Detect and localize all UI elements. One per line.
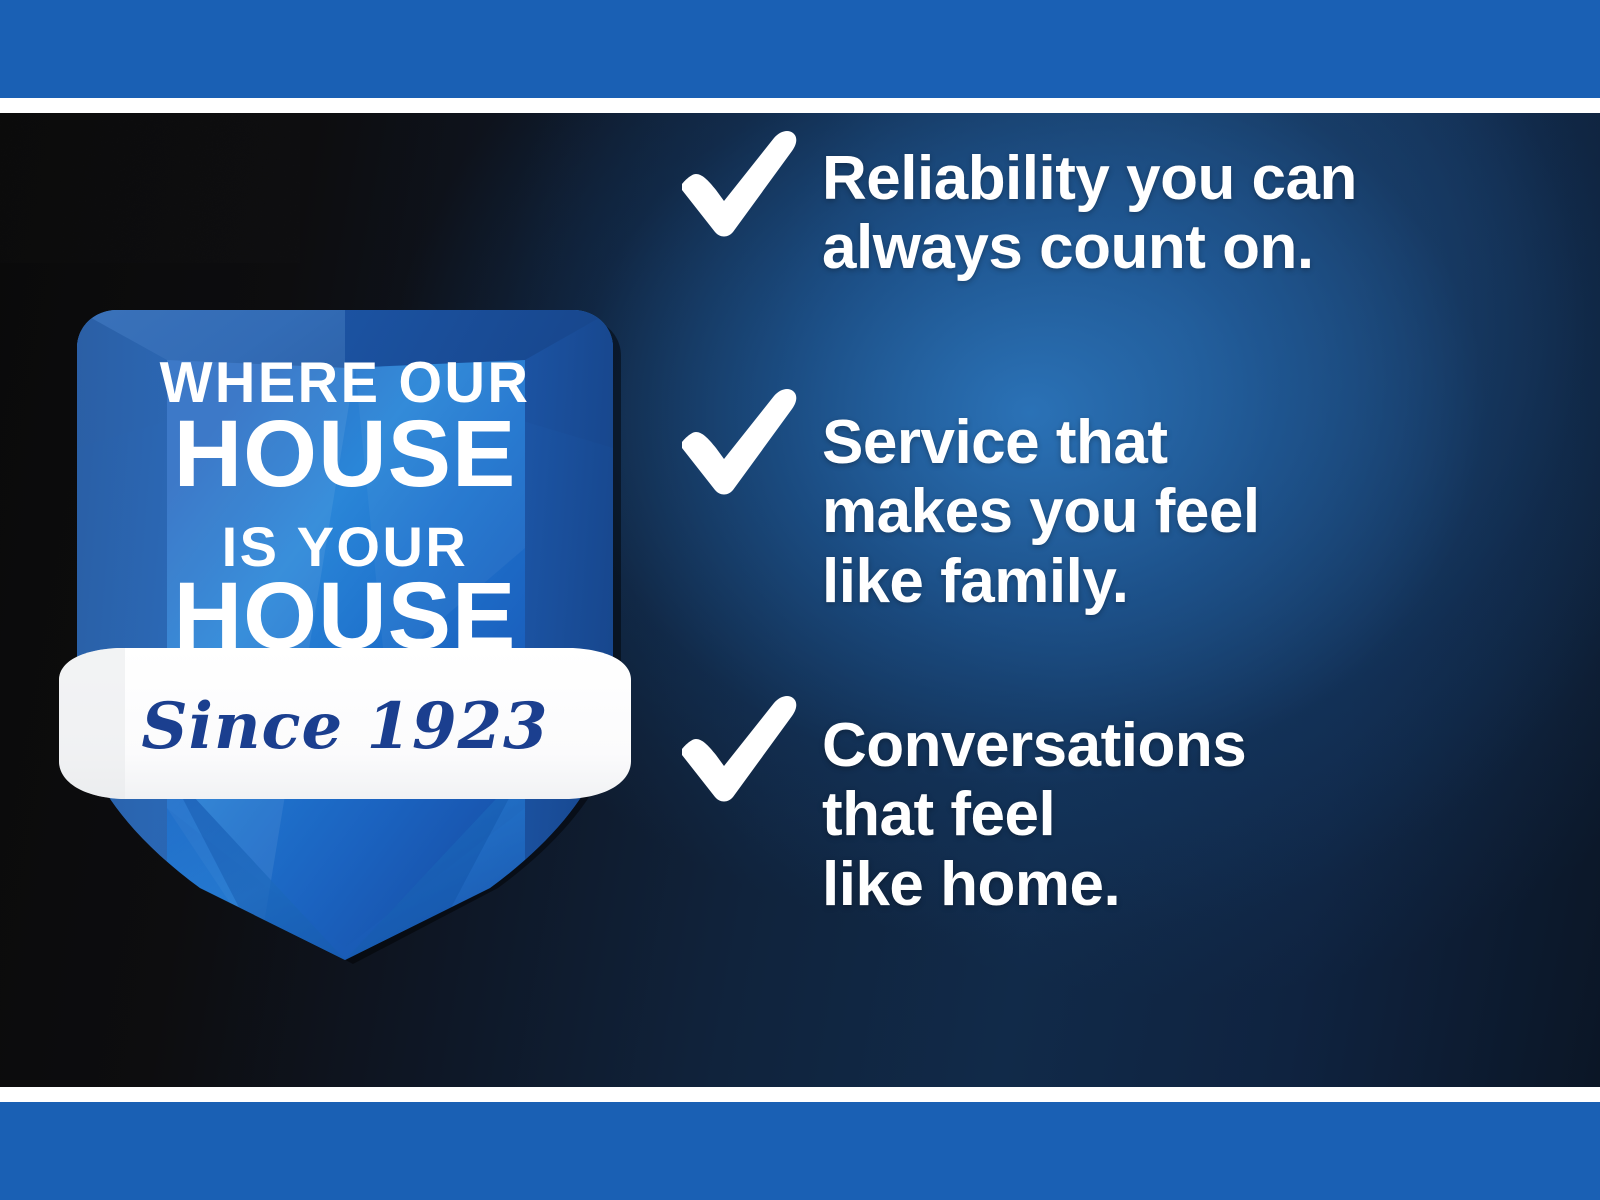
check-icon [670, 693, 806, 809]
benefit-text: Conversations that feel like home. [822, 693, 1246, 919]
benefit-item: Conversations that feel like home. [670, 693, 1246, 919]
shield-line-1: HOUSE [174, 401, 517, 507]
bottom-brand-bar [0, 1102, 1600, 1200]
shield-banner: Since 1923 [59, 648, 631, 799]
benefit-item: Service that makes you feel like family. [670, 386, 1260, 616]
promo-graphic: WHERE OUR HOUSE IS YOUR HOUSE Since 1923 [0, 0, 1600, 1200]
benefit-item: Reliability you can always count on. [670, 128, 1357, 283]
main-canvas: WHERE OUR HOUSE IS YOUR HOUSE Since 1923 [0, 113, 1600, 1087]
check-icon [670, 128, 806, 244]
banner-left-shadow [59, 648, 125, 799]
shield-logo: WHERE OUR HOUSE IS YOUR HOUSE Since 1923 [55, 248, 635, 948]
shield-banner-text: Since 1923 [141, 689, 548, 764]
benefit-text: Service that makes you feel like family. [822, 386, 1260, 616]
bottom-divider-rule [0, 1087, 1600, 1102]
grain-texture [0, 113, 300, 263]
check-icon [670, 386, 806, 502]
shield-facet-left [77, 310, 167, 968]
benefit-text: Reliability you can always count on. [822, 128, 1357, 283]
top-divider-rule [0, 98, 1600, 113]
shield-facet-right [525, 310, 613, 968]
benefit-list: Reliability you can always count on. Ser… [660, 113, 1600, 1087]
top-brand-bar [0, 0, 1600, 98]
